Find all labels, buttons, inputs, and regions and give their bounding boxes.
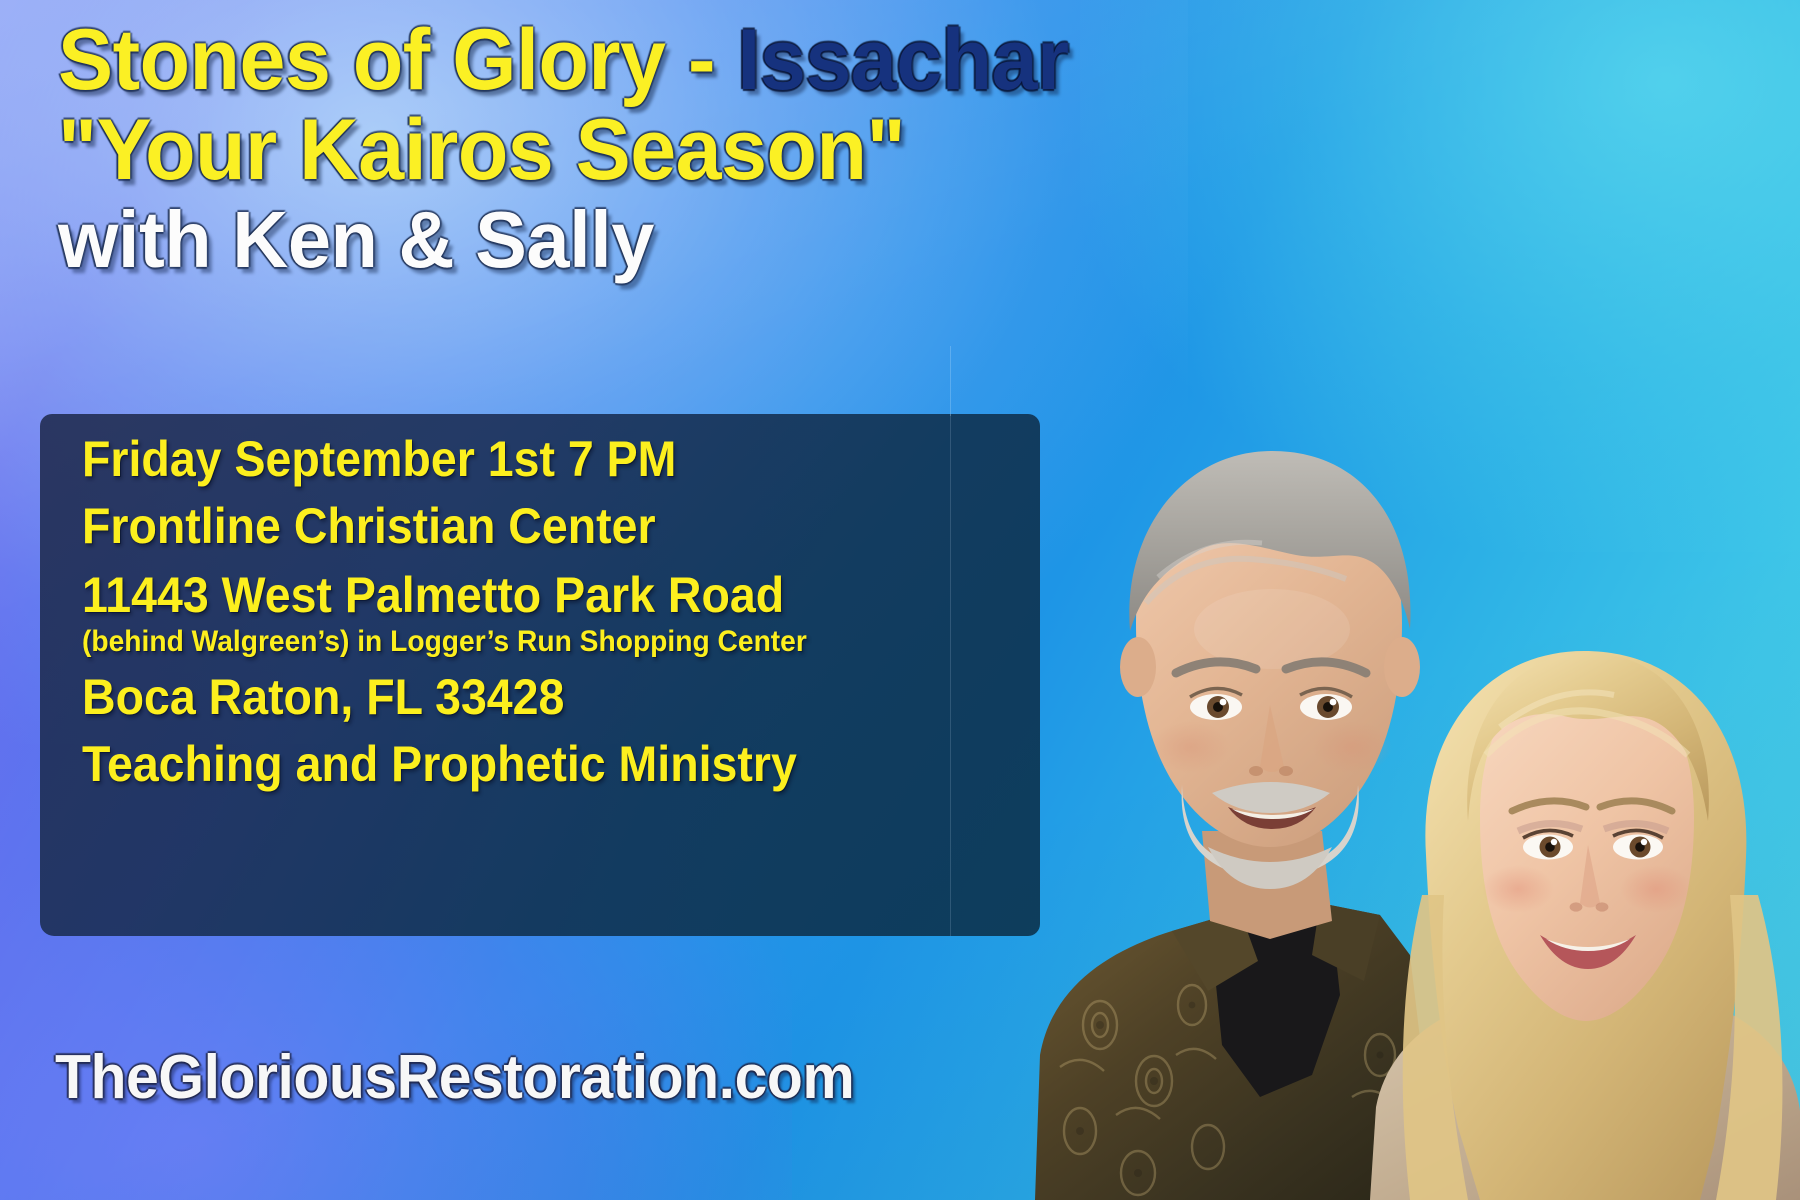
headline-title-yellow: Stones of Glory - (58, 12, 737, 108)
event-ministry-type: Teaching and Prophetic Ministry (82, 739, 954, 790)
event-date-time: Friday September 1st 7 PM (82, 434, 954, 485)
event-city-state-zip: Boca Raton, FL 33428 (82, 672, 954, 723)
panel-text-block: Friday September 1st 7 PM Frontline Chri… (82, 434, 1020, 790)
event-flyer: Stones of Glory - Issachar "Your Kairos … (0, 0, 1800, 1200)
headline-block: Stones of Glory - Issachar "Your Kairos … (58, 18, 1348, 279)
man-figure (1035, 451, 1426, 1200)
event-street: 11443 West Palmetto Park Road (82, 570, 954, 621)
headline-line-1: Stones of Glory - Issachar (58, 18, 1296, 102)
couple-portrait-photo (940, 355, 1800, 1200)
headline-line-3-speakers: with Ken & Sally (58, 201, 1309, 279)
event-details-panel: Friday September 1st 7 PM Frontline Chri… (40, 414, 1040, 936)
panel-seam-upper (950, 346, 951, 416)
event-venue: Frontline Christian Center (82, 501, 954, 552)
woman-figure (1370, 651, 1800, 1200)
event-landmark: (behind Walgreen’s) in Logger’s Run Shop… (82, 627, 964, 658)
headline-title-tribe: Issachar (737, 12, 1068, 108)
website-url[interactable]: TheGloriousRestoration.com (55, 1042, 854, 1113)
headline-line-2-subtitle: "Your Kairos Season" (58, 108, 1296, 192)
